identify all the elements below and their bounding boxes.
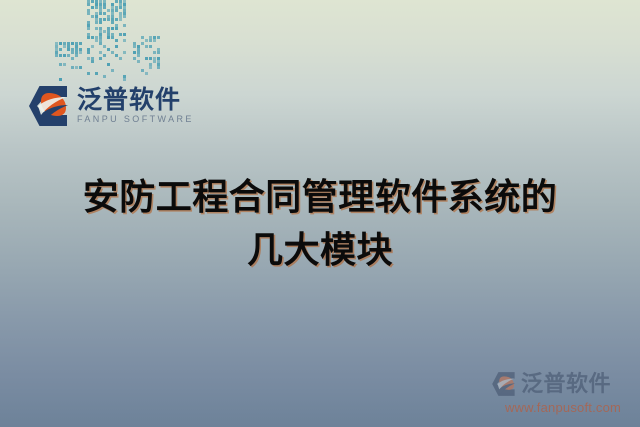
fanpu-hexagon-mark-icon — [27, 84, 71, 128]
slide-canvas: 泛普软件 FANPU SOFTWARE 安防工程合同管理软件系统的 几大模块 泛… — [0, 0, 640, 427]
watermark-brand-name-cn: 泛普软件 — [521, 373, 611, 395]
page-title: 安防工程合同管理软件系统的 几大模块 — [0, 171, 640, 277]
watermark: 泛普软件 www.fanpusoft.com — [490, 369, 636, 421]
watermark-logo-row: 泛普软件 — [490, 369, 636, 399]
brand-name-en: FANPU SOFTWARE — [77, 114, 194, 126]
page-title-line-1: 安防工程合同管理软件系统的 — [0, 171, 640, 224]
brand-logo: 泛普软件 FANPU SOFTWARE — [27, 82, 187, 130]
brand-logo-wordmark: 泛普软件 FANPU SOFTWARE — [77, 87, 194, 126]
watermark-url: www.fanpusoft.com — [490, 400, 636, 415]
pixel-matrix-decoration — [55, 0, 163, 78]
brand-name-cn: 泛普软件 — [77, 87, 194, 113]
watermark-fanpu-hexagon-mark-icon — [490, 371, 518, 397]
page-title-line-2: 几大模块 — [0, 224, 640, 277]
